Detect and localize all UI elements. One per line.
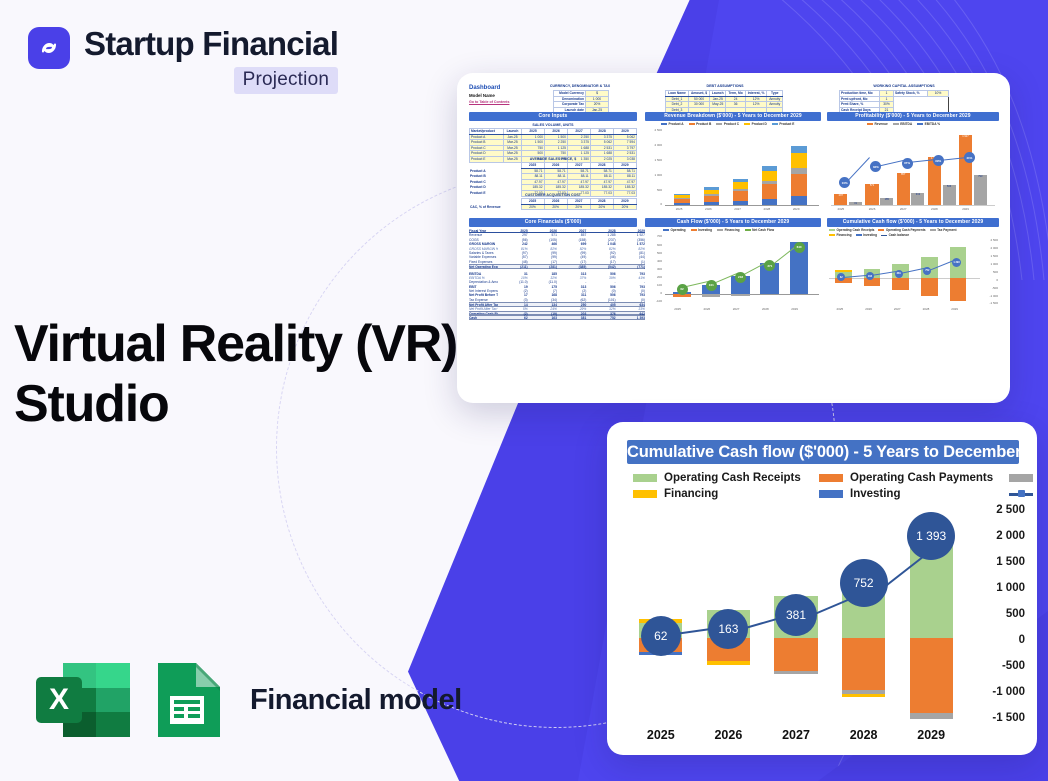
- segment-tax-payment: [910, 713, 953, 719]
- data-label-2028[interactable]: 752: [840, 559, 888, 607]
- net-cash-flow-label-2027: 218: [735, 272, 746, 283]
- chart-cash-flow[interactable]: Operating Investing Financing Net Cash F…: [645, 228, 821, 318]
- table-row: Corporate Tax 20%: [554, 102, 609, 108]
- page-title: Virtual Reality (VR) Studio: [14, 314, 474, 435]
- cac-table: 2025 2026 2027 2028 2029 CAC, % of Reven…: [469, 198, 637, 210]
- net-cash-flow-label-2029: 640: [794, 242, 805, 253]
- net-cash-flow-label-2026: 101: [706, 280, 717, 291]
- chart-legend-row2: Financing Investing Cash balance: [829, 233, 909, 237]
- data-label-2029[interactable]: 1 393: [907, 512, 955, 560]
- band-cash-flow: Cash Flow ($'000) - 5 Years to December …: [645, 218, 821, 227]
- chart-legend: Operating Investing Financing Net Cash F…: [663, 228, 774, 232]
- chart-legend: Product A Product B Product C Product D …: [661, 122, 794, 126]
- debt-block-title: DEBT ASSUMPTIONS: [665, 84, 785, 88]
- brand-lockup: Startup Financial Projection: [28, 27, 338, 94]
- table-row: Net Profit After Tax %5%24%29%32%33%: [469, 307, 645, 311]
- segment-financing: [842, 694, 885, 697]
- table-row: Fixed Expenses(48)(17)(17)(17)(1): [469, 260, 645, 264]
- band-revenue-breakdown: Revenue Breakdown ($'000) - 5 Years to D…: [645, 112, 821, 121]
- chart-y-axis: 700 600 500 400 300 200 100 0 -100: [647, 236, 663, 302]
- band-core-inputs: Core Inputs: [469, 112, 637, 121]
- chart-x-axis: 2025 2026 2027 2028 2029: [665, 207, 819, 213]
- chart-plot-area: [665, 130, 819, 206]
- ebitda-pct-label-2029: 41%: [964, 152, 975, 163]
- ebitda-pct-label-2027: 37%: [902, 158, 913, 169]
- table-row: CAC, % of Revenue 20% 20% 20% 20% 20%: [469, 204, 637, 210]
- core-financials-table: Fiscal Year 2025 2026 2027 2028 2029 Rev…: [469, 229, 645, 320]
- dashboard-title: Dashboard: [469, 85, 500, 91]
- band-profitability: Profitability ($'000) - 5 Years to Decem…: [827, 112, 999, 121]
- svg-text:X: X: [49, 683, 69, 716]
- ebitda-pct-label-2025: 10%: [839, 177, 850, 188]
- chart-legend: Operating Cash Receipts Operating Cash P…: [633, 472, 1023, 500]
- table-row: Tax Expense(3)(34)(62)(101)(0): [469, 298, 645, 302]
- chart-y-axis: 2 500 2 000 1 500 1 000 500 0 -500 -1 00…: [967, 510, 1025, 725]
- currency-block-title: CURRENCY, DENOMINATOR & TAX: [535, 84, 625, 88]
- chart-x-axis: 2025 2026 2027 2028 2029: [665, 307, 819, 313]
- segment-financing: [707, 661, 750, 665]
- working-capital-block-title: WORKING CAPITAL ASSUMPTIONS: [839, 84, 969, 88]
- footer-label: Financial model: [250, 684, 462, 717]
- chart-bars: 62 163 381 752 1 393: [627, 510, 965, 725]
- working-capital-table: Production time, Mo 1 Safety Stock, % 10…: [839, 90, 949, 113]
- band-cumulative-cash-flow: Cumulative Cash flow ($'000) - 5 Years t…: [827, 218, 999, 227]
- dashboard-subtitle: Model Name: [469, 93, 495, 98]
- chart-plot-area: 2 500 2 000 1 500 1 000 500 0 -500 -1 00…: [619, 510, 1027, 725]
- bar-revenue-2025: 297: [834, 194, 847, 205]
- brand-subtitle: Projection: [234, 67, 339, 94]
- chart-title: Cumulative Cash flow ($'000) - 5 Years t…: [627, 440, 1019, 464]
- data-label-2027[interactable]: 381: [775, 594, 817, 636]
- net-cash-flow-label-2025: 62: [677, 284, 688, 295]
- band-core-financials: Core Financials ($'000): [469, 218, 637, 227]
- segment-tax-payment: [774, 671, 817, 674]
- cac-section-label: CUSTOMER ACQUISITION COST: [469, 193, 637, 197]
- table-row: Denomination 1 000: [554, 96, 609, 102]
- chart-revenue-breakdown[interactable]: Product A Product B Product C Product D …: [645, 122, 821, 214]
- bar-ebitda-2025: 31: [849, 202, 862, 205]
- legend-item-operating-cash-receipts[interactable]: Operating Cash Receipts: [633, 472, 819, 484]
- chart-profitability[interactable]: Revenue EBITDA EBITDA % 297 31 571 185 8…: [827, 122, 999, 214]
- brand-title: Startup Financial: [84, 27, 338, 62]
- chart-x-axis: 2025 2026 2027 2028 2029: [829, 307, 980, 313]
- legend-item-operating-cash-payments[interactable]: Operating Cash Payments: [819, 472, 1009, 484]
- segment-operating-cash-payments: [842, 638, 885, 690]
- chart-plot-area: 62 163 381 752 1 393: [829, 240, 980, 302]
- chart-plot-area: 297 31 571 185 857 313 1 285 506 1 927 7…: [831, 132, 995, 206]
- data-label-2025[interactable]: 62: [641, 616, 681, 656]
- chart-x-axis: 2025 2026 2027 2028 2029: [627, 728, 965, 748]
- segment-operating-cash-payments: [910, 638, 953, 713]
- google-sheets-icon: [152, 661, 226, 739]
- legend-item-tax-payment[interactable]: Tax Payment: [1009, 472, 1037, 484]
- chart-legend: Revenue EBITDA EBITDA %: [867, 122, 940, 126]
- legend-item-financing[interactable]: Financing: [633, 488, 819, 500]
- legend-item-cash-balance[interactable]: Cash balance: [1009, 488, 1037, 500]
- chart-x-axis: 2025 2026 2027 2028 2029: [831, 207, 995, 213]
- sales-volume-section-label: SALES VOLUME, UNITS: [469, 123, 637, 127]
- left-content-column: Startup Financial Projection Virtual Rea…: [0, 0, 470, 781]
- ebitda-pct-label-2028: 39%: [933, 155, 944, 166]
- e-loop-icon: [28, 27, 70, 69]
- data-label-2026[interactable]: 163: [708, 609, 748, 649]
- ebitda-pct-label-2026: 32%: [870, 161, 881, 172]
- legend-item-investing[interactable]: Investing: [819, 488, 1009, 500]
- excel-icon: X: [34, 661, 132, 739]
- footer-logos: X Financial model: [34, 661, 462, 739]
- currency-block-table: Model Currency $ Denomination 1 000 Corp…: [553, 90, 609, 113]
- chart-plot-area: 62 101 218 371 640: [665, 236, 819, 302]
- dashboard-preview-card[interactable]: Dashboard Model Name Go to Table of Cont…: [457, 73, 1010, 403]
- chart-y-axis: 2 500 2 000 1 500 1 000 500 0 -500 -1 00…: [982, 240, 998, 302]
- segment-operating-cash-payments: [774, 638, 817, 671]
- average-price-table: 2025 2026 2027 2028 2029 Product A 58.71…: [469, 162, 637, 197]
- cumulative-cash-flow-card[interactable]: Cumulative Cash flow ($'000) - 5 Years t…: [607, 422, 1037, 755]
- spreadsheet-dashboard: Dashboard Model Name Go to Table of Cont…: [465, 81, 1002, 397]
- chart-cumulative-cash-flow-mini[interactable]: Operating Cash Receipts Operating Cash P…: [827, 228, 999, 318]
- debt-assumptions-table: Loan Name Amount, $ Launch Term, Mo Inte…: [665, 90, 783, 113]
- avg-price-section-label: AVERAGE SALES PRICE, $: [469, 157, 637, 161]
- bar-group-2028: [830, 510, 898, 725]
- chart-legend: Operating Cash Receipts Operating Cash P…: [829, 228, 957, 232]
- table-of-contents-link[interactable]: Go to Table of Contents: [469, 100, 509, 104]
- table-row: Cash621633817521 393: [469, 315, 645, 319]
- chart-y-axis: 2 500 2 000 1 500 1 000 500 0: [647, 130, 663, 206]
